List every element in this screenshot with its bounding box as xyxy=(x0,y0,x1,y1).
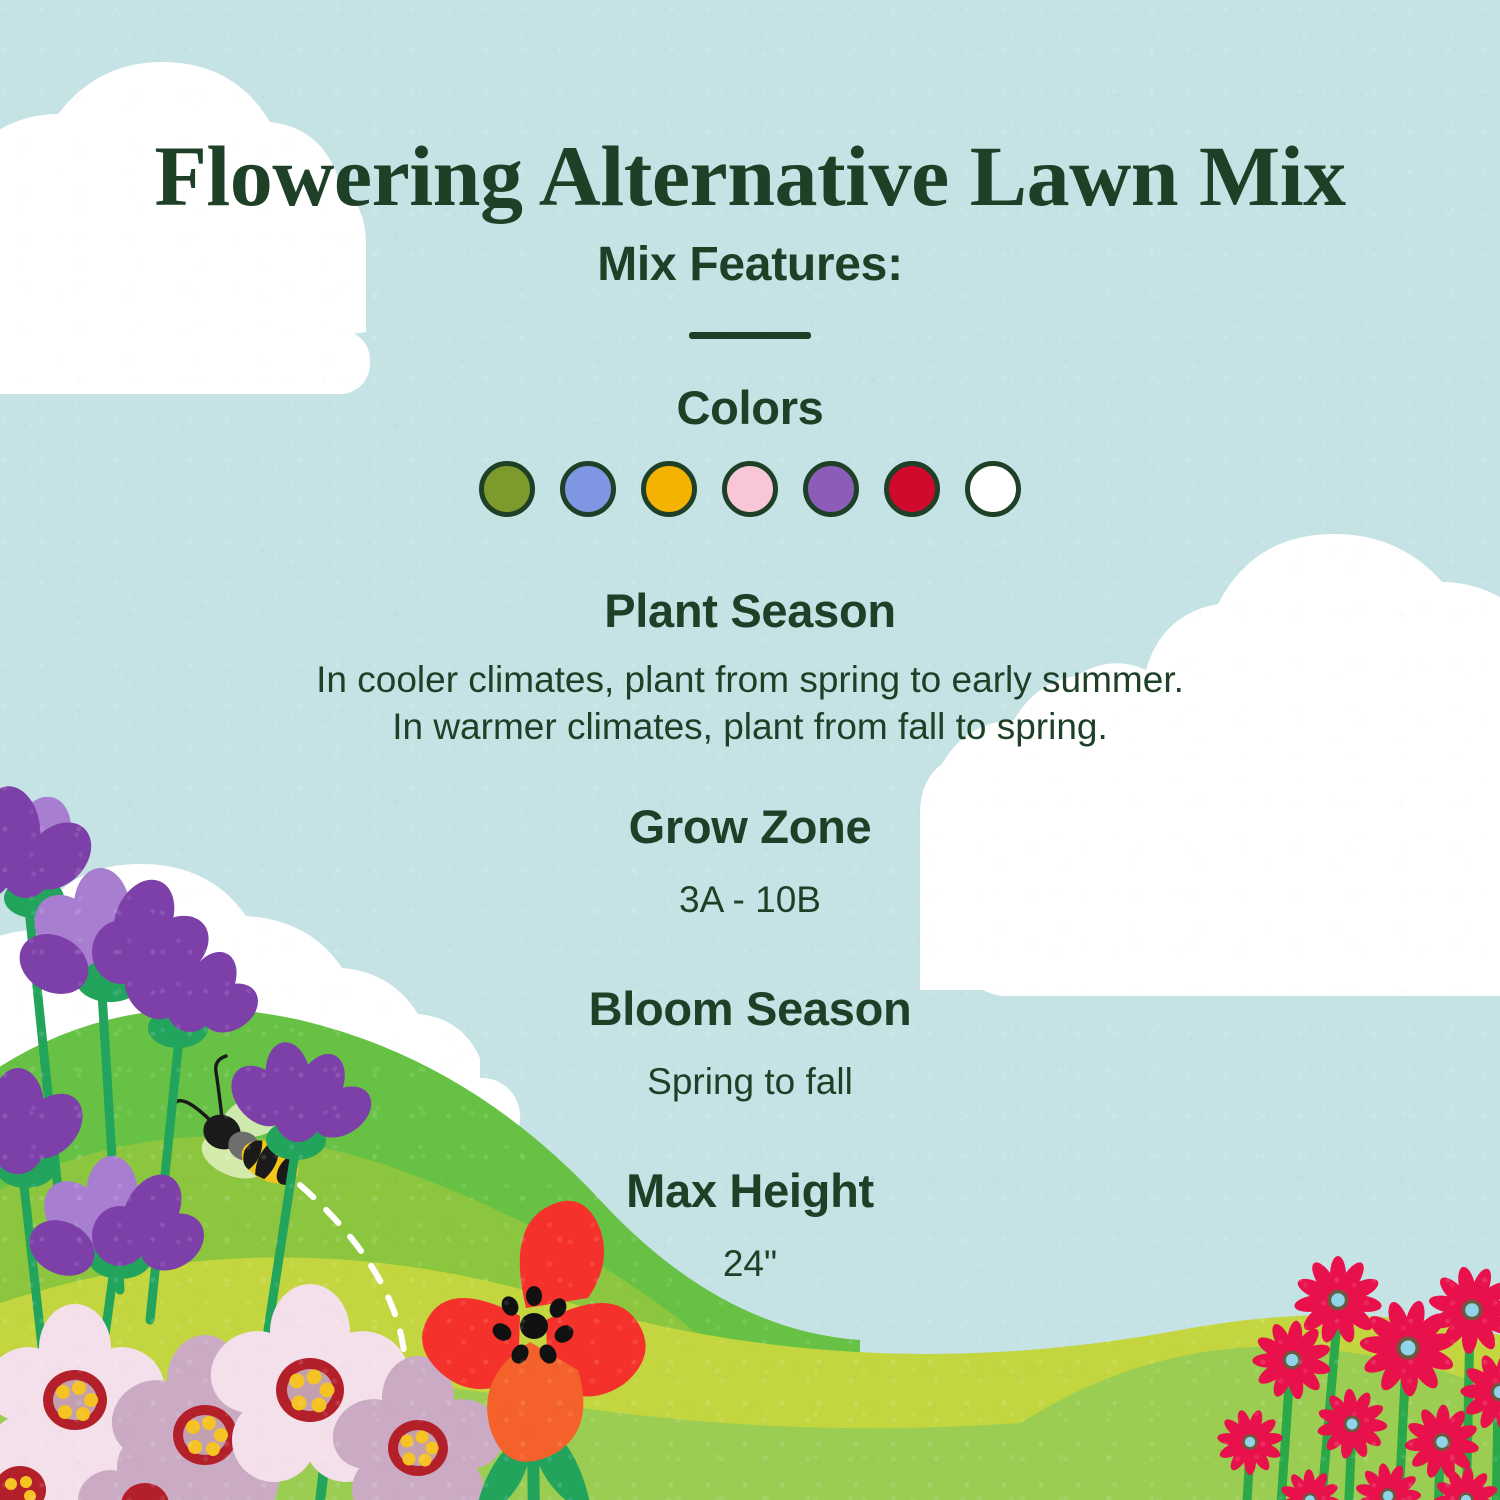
color-swatch-periwinkle-blue xyxy=(560,461,616,517)
poster-canvas: Flowering Alternative Lawn Mix Mix Featu… xyxy=(0,0,1500,1500)
section-divider xyxy=(689,332,811,339)
max-height-heading: Max Height xyxy=(0,1105,1500,1218)
subtitle: Mix Features: xyxy=(0,219,1500,292)
plant-season-line-2: In warmer climates, plant from fall to s… xyxy=(392,706,1108,747)
bloom-season-value: Spring to fall xyxy=(0,1036,1500,1105)
color-swatch-light-pink xyxy=(722,461,778,517)
page-title: Flowering Alternative Lawn Mix xyxy=(0,0,1500,219)
grow-zone-heading: Grow Zone xyxy=(0,751,1500,854)
plant-season-heading: Plant Season xyxy=(0,517,1500,638)
color-swatch-golden-yellow xyxy=(641,461,697,517)
grow-zone-value: 3A - 10B xyxy=(0,854,1500,923)
colors-heading: Colors xyxy=(0,344,1500,435)
color-swatch-crimson-red xyxy=(884,461,940,517)
content-column: Flowering Alternative Lawn Mix Mix Featu… xyxy=(0,0,1500,1288)
color-swatch-olive-green xyxy=(479,461,535,517)
color-swatch-white xyxy=(965,461,1021,517)
max-height-value: 24" xyxy=(0,1218,1500,1287)
divider-wrap xyxy=(0,292,1500,344)
color-swatch-purple xyxy=(803,461,859,517)
plant-season-text: In cooler climates, plant from spring to… xyxy=(0,638,1500,751)
bloom-season-heading: Bloom Season xyxy=(0,923,1500,1036)
plant-season-line-1: In cooler climates, plant from spring to… xyxy=(316,659,1184,700)
color-swatch-row xyxy=(0,435,1500,517)
